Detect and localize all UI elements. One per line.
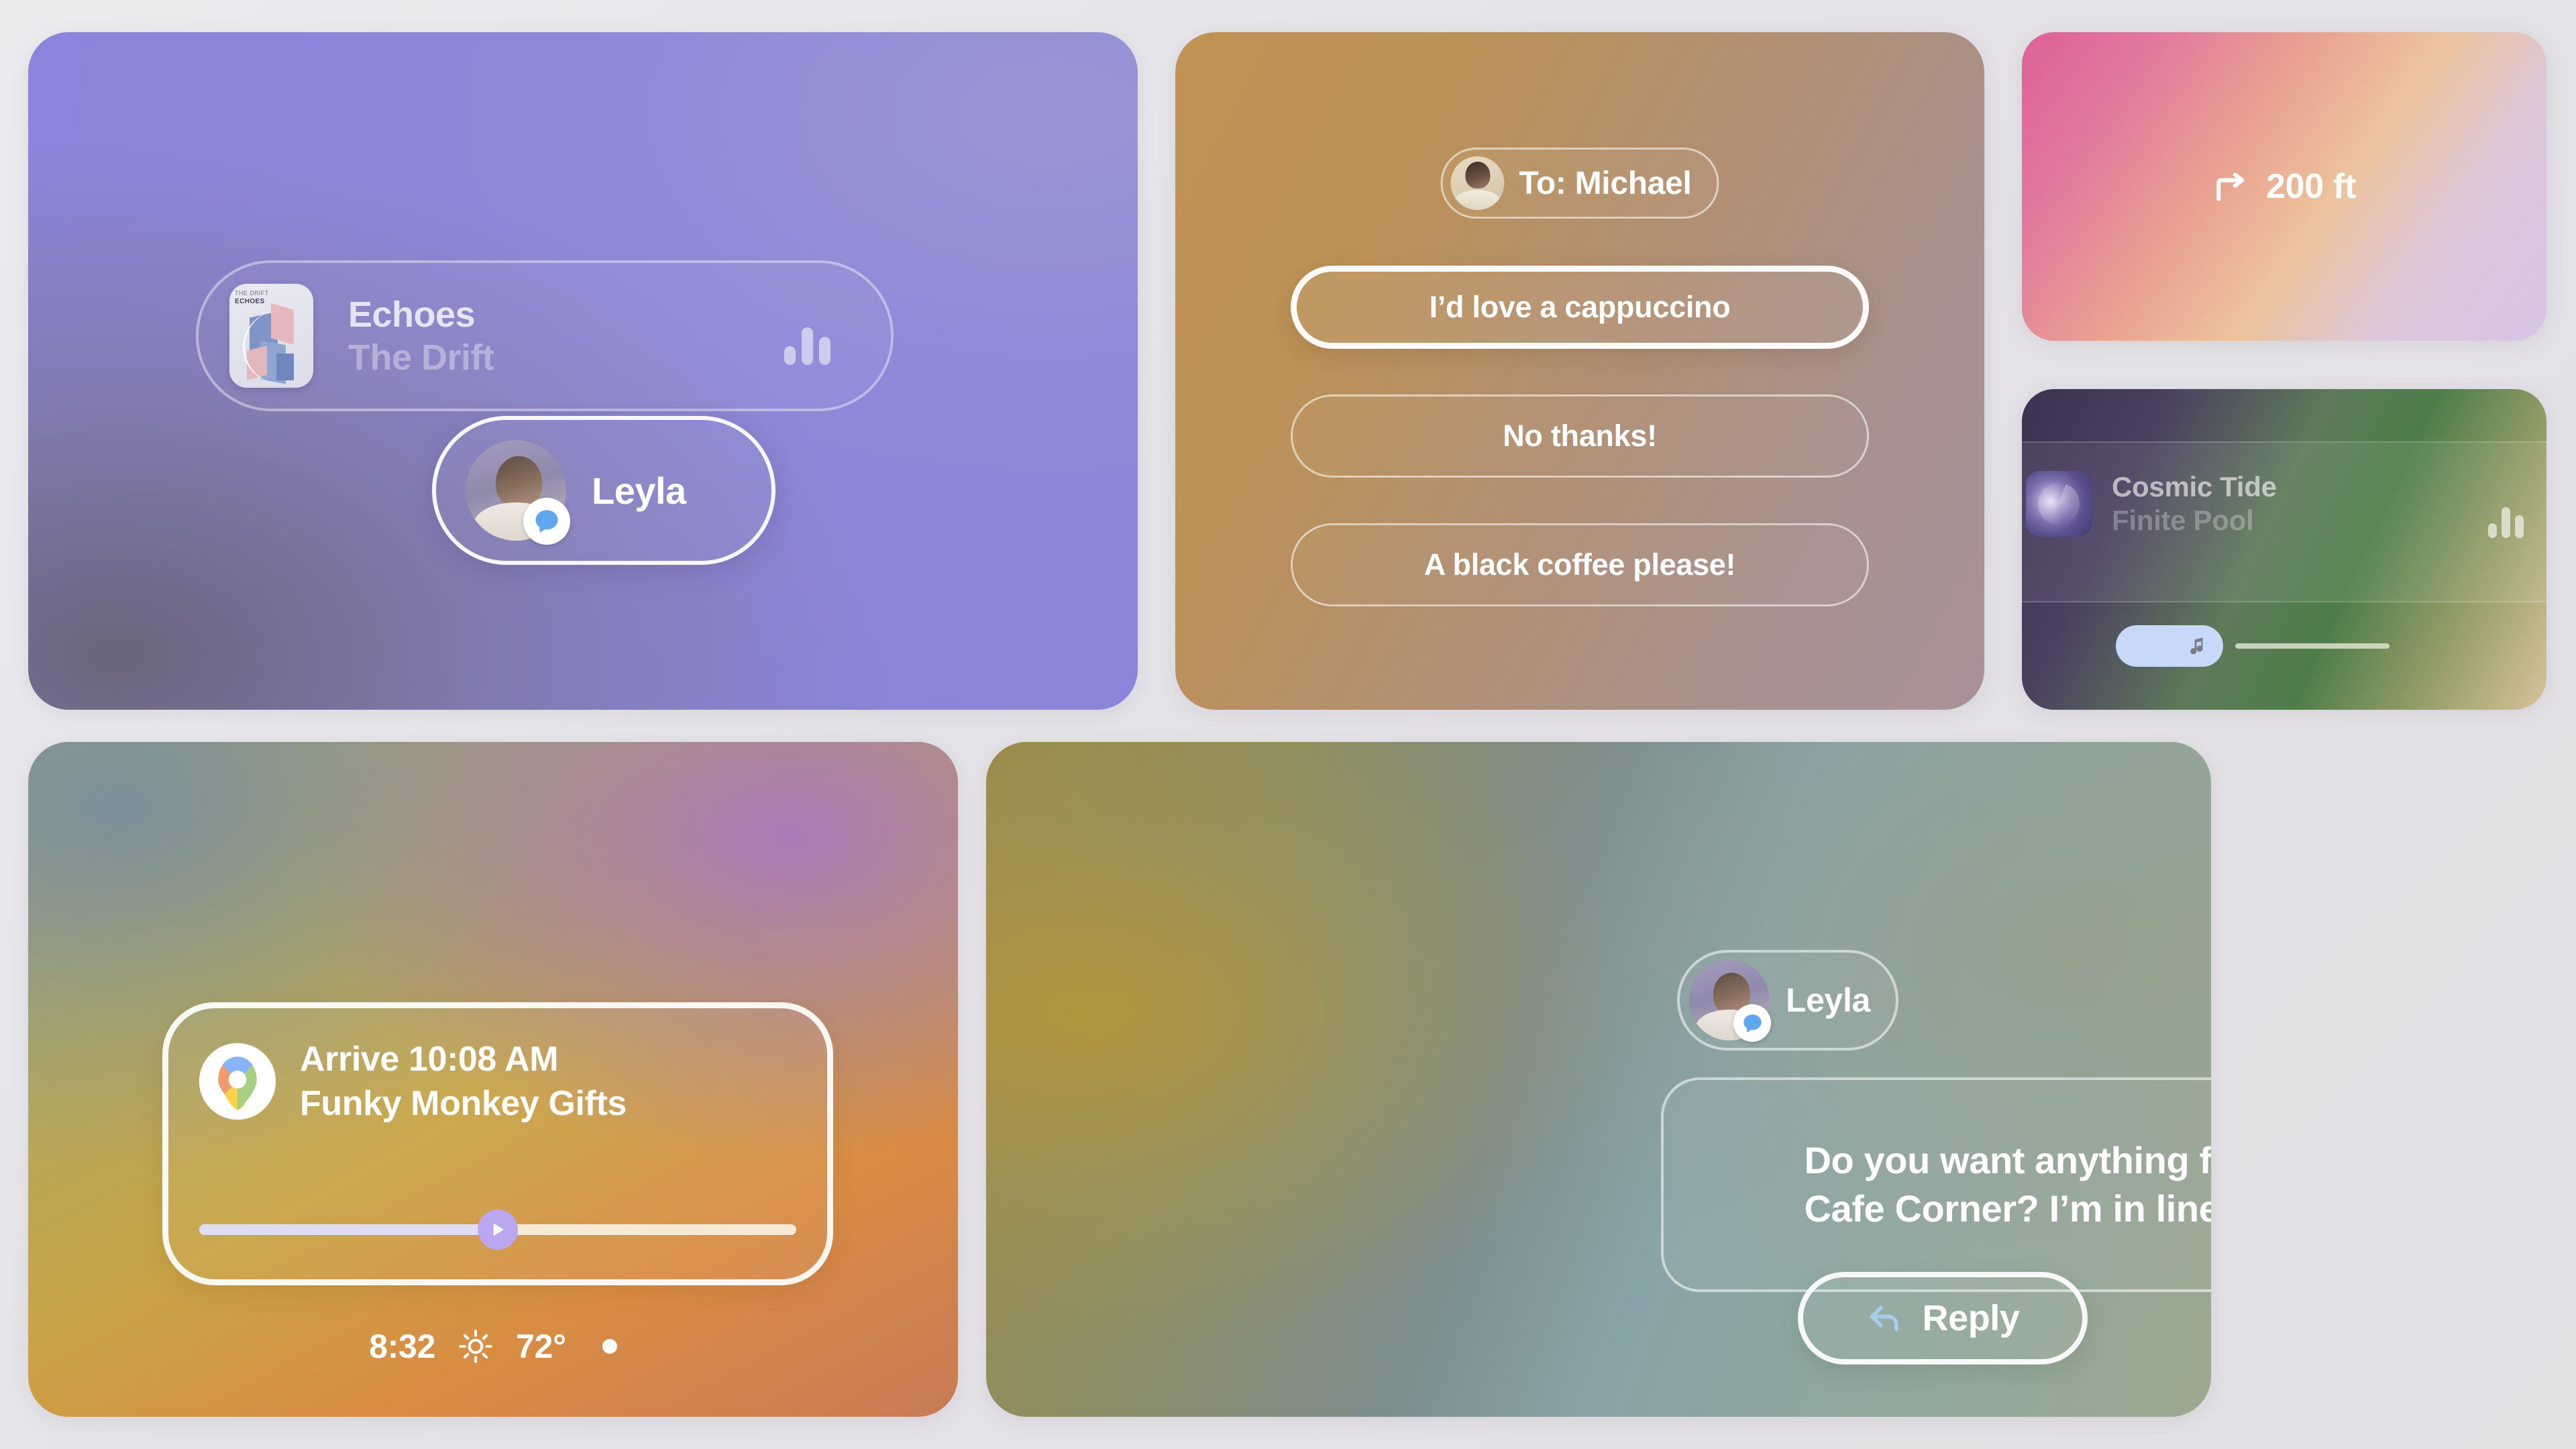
track-title: Cosmic Tide [2112, 471, 2277, 503]
turn-right-icon [2212, 168, 2250, 205]
music-note-icon [2186, 635, 2208, 657]
message-sender-pill[interactable]: Leyla [1677, 950, 1898, 1051]
contact-pill-leyla[interactable]: Leyla [432, 416, 775, 565]
message-line-1: Do you want anything from [1805, 1136, 2211, 1185]
message-line-2: Cafe Corner? I’m in line now. [1805, 1185, 2211, 1233]
progress-fill [199, 1224, 498, 1235]
navigation-arrive-card[interactable]: Arrive 10:08 AM Funky Monkey Gifts 8:32 [28, 742, 958, 1417]
cosmic-player-card[interactable]: Cosmic Tide Finite Pool [2022, 389, 2546, 710]
track-artist: The Drift [348, 337, 494, 378]
navigation-distance: 200 ft [2266, 166, 2356, 207]
music-now-playing-card[interactable]: THE DRIFT ECHOES Echoes The Drift [28, 32, 1138, 710]
scrubber-thumb[interactable] [2116, 625, 2223, 667]
status-time: 8:32 [369, 1327, 435, 1366]
route-progress-bar[interactable] [199, 1224, 796, 1235]
cosmic-now-playing: Cosmic Tide Finite Pool [2026, 471, 2277, 537]
recipient-label: To: Michael [1519, 165, 1691, 202]
progress-thumb[interactable] [478, 1210, 518, 1250]
play-triangle-icon [488, 1220, 508, 1240]
status-bar: 8:32 72° [28, 1327, 958, 1366]
playback-scrubber[interactable] [2116, 625, 2390, 667]
scrubber-track[interactable] [2235, 643, 2390, 649]
reply-option-label: I’d love a cappuccino [1430, 290, 1731, 325]
arrive-pill[interactable]: Arrive 10:08 AM Funky Monkey Gifts [162, 1002, 833, 1285]
navigation-instruction: 200 ft [2212, 166, 2356, 207]
now-playing-text: Echoes The Drift [348, 294, 494, 378]
track-artist: Finite Pool [2112, 504, 2277, 537]
reply-button[interactable]: Reply [1798, 1272, 2088, 1364]
contact-name: Leyla [592, 469, 686, 513]
recipient-pill[interactable]: To: Michael [1440, 148, 1719, 219]
reply-option-0[interactable]: I’d love a cappuccino [1291, 266, 1869, 349]
equalizer-icon [2488, 507, 2524, 538]
incoming-message-card[interactable]: Leyla Do you want anything from Cafe Cor… [986, 742, 2211, 1417]
arrive-destination: Funky Monkey Gifts [300, 1083, 627, 1124]
reply-option-label: No thanks! [1503, 419, 1657, 453]
reply-button-label: Reply [1922, 1297, 2019, 1339]
messages-badge-icon [1733, 1004, 1771, 1042]
album-art-swirl [2026, 471, 2092, 537]
reply-arrow-icon [1866, 1299, 1904, 1338]
google-maps-pin-icon [198, 1042, 277, 1121]
arrive-eta: Arrive 10:08 AM [300, 1039, 627, 1079]
reply-option-label: A black coffee please! [1424, 547, 1735, 582]
status-temperature: 72° [516, 1327, 566, 1366]
album-art-caption: THE DRIFT ECHOES [235, 289, 269, 307]
avatar [1689, 960, 1770, 1040]
reply-option-1[interactable]: No thanks! [1291, 394, 1869, 478]
message-sender-name: Leyla [1786, 981, 1870, 1020]
messages-badge-icon [523, 498, 570, 545]
album-art-thumbnail: THE DRIFT ECHOES [229, 284, 313, 388]
message-bubble: Do you want anything from Cafe Corner? I… [1661, 1077, 2211, 1292]
sun-icon [458, 1329, 493, 1364]
track-title: Echoes [348, 294, 494, 335]
widget-canvas: THE DRIFT ECHOES Echoes The Drift [0, 0, 2576, 1449]
equalizer-icon [784, 327, 830, 365]
avatar [1450, 156, 1504, 210]
suggested-replies-card[interactable]: To: Michael I’d love a cappuccino No tha… [1175, 32, 1984, 710]
avatar [466, 440, 566, 541]
navigation-card[interactable]: 200 ft [2022, 32, 2546, 341]
reply-option-2[interactable]: A black coffee please! [1291, 523, 1869, 606]
now-playing-pill[interactable]: THE DRIFT ECHOES Echoes The Drift [196, 260, 894, 411]
recording-dot-icon [602, 1339, 617, 1354]
